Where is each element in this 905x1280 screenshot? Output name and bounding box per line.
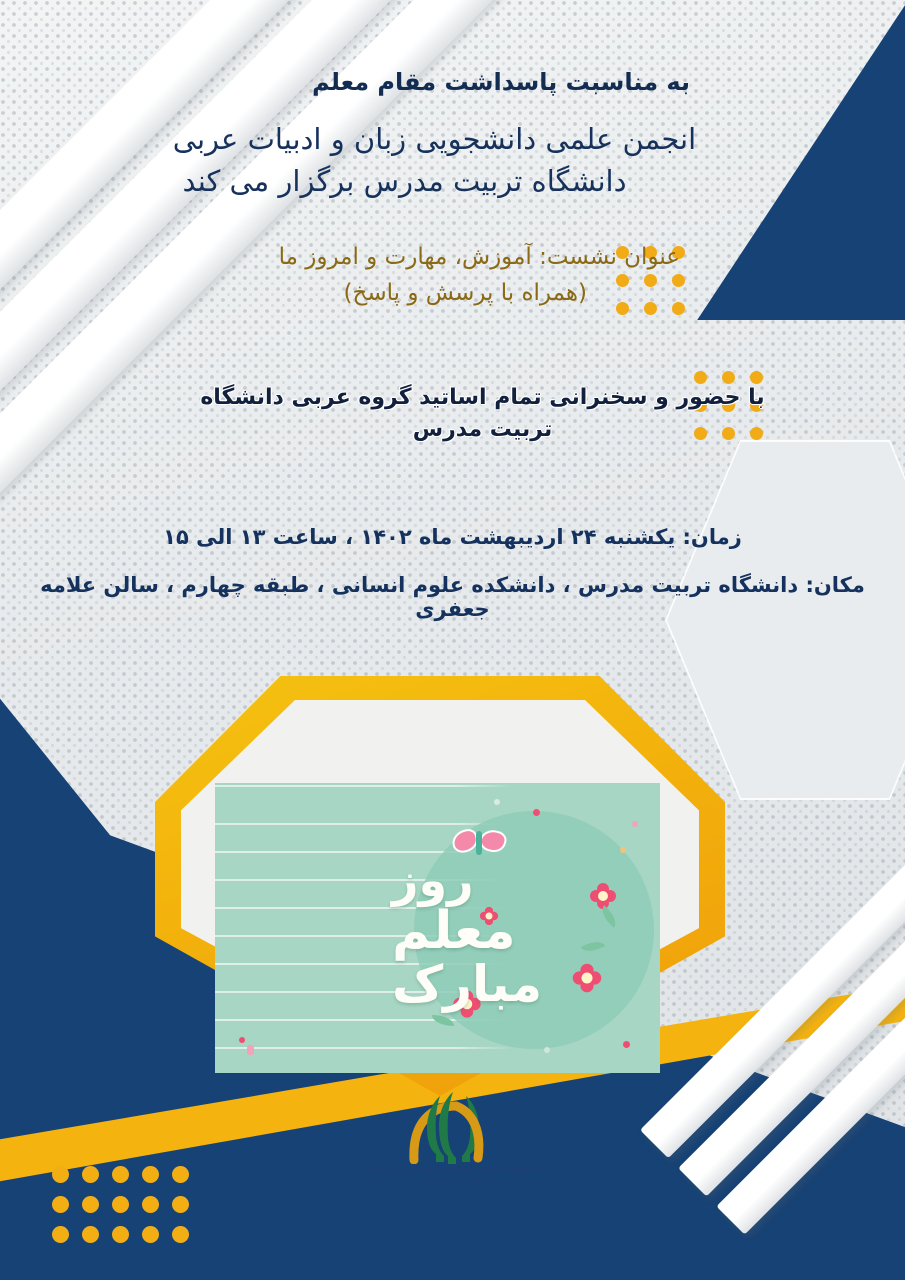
speakers-line-2: تربیت مدرس: [60, 414, 905, 446]
speakers-note: با حضور و سخنرانی تمام اساتید گروه عربی …: [60, 382, 905, 446]
occasion-heading: به مناسبت پاسداشت مقام معلم: [312, 68, 690, 96]
association-line-2: دانشگاه تربیت مدرس برگزار می کند: [0, 160, 869, 202]
poster-canvas: روز معلم مبارک الجمعية العلمية الطلابية …: [0, 0, 905, 1280]
session-title-line-2: (همراه با پرسش و پاسخ): [279, 276, 680, 312]
association-line-1: انجمن علمی دانشجویی زبان و ادبیات عربی: [0, 118, 869, 160]
session-title-line-1: عنوان نشست: آموزش، مهارت و امروز ما: [279, 240, 680, 276]
poster-text-layer: به مناسبت پاسداشت مقام معلم انجمن علمی د…: [0, 0, 905, 1280]
event-venue: مکان: دانشگاه تربیت مدرس ، دانشکده علوم …: [18, 573, 887, 621]
association-heading: انجمن علمی دانشجویی زبان و ادبیات عربی د…: [0, 118, 869, 202]
speakers-line-1: با حضور و سخنرانی تمام اساتید گروه عربی …: [60, 382, 905, 414]
session-title: عنوان نشست: آموزش، مهارت و امروز ما (همر…: [279, 240, 680, 311]
event-time: زمان: یکشنبه ۲۴ اردیبهشت ماه ۱۴۰۲ ، ساعت…: [34, 525, 871, 549]
